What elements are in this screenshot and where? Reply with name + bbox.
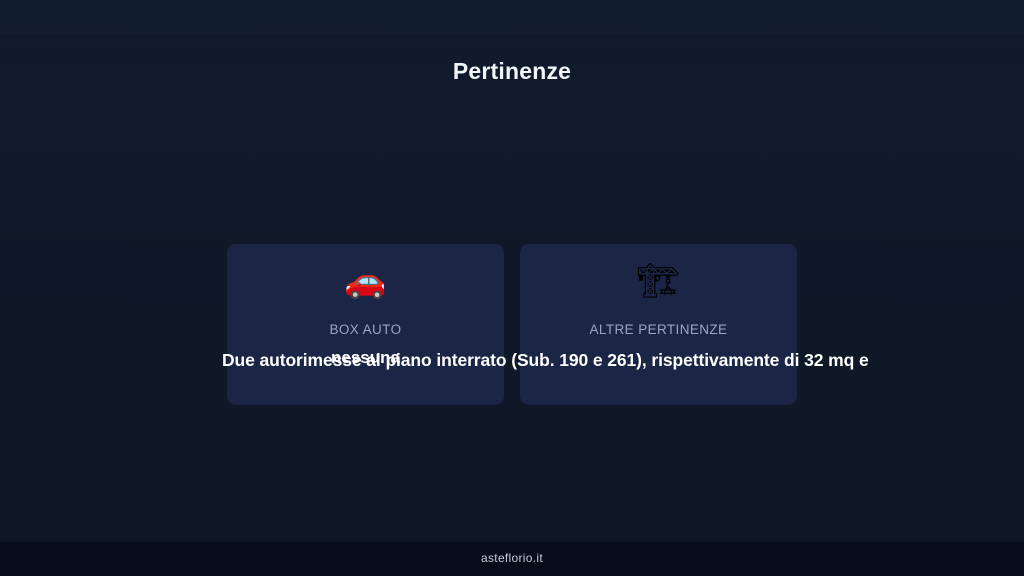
card-box-auto[interactable]: 🚗 BOX AUTO nessuna (227, 244, 504, 405)
background-band-middle (0, 34, 1024, 60)
background-band-top (0, 0, 1024, 34)
slide-stage: Pertinenze 🚗 BOX AUTO nessuna 🏗 ALTRE PE… (0, 0, 1024, 576)
card-label-altre-pertinenze: ALTRE PERTINENZE (520, 322, 797, 337)
page-title: Pertinenze (0, 58, 1024, 85)
car-icon: 🚗 (227, 261, 504, 301)
pertinenze-description-overflow: Due autorimesse al piano interrato (Sub.… (222, 348, 1024, 372)
footer-bar: asteflorio.it (0, 542, 1024, 576)
construction-crane-icon: 🏗 (520, 261, 797, 301)
footer-site-label: asteflorio.it (0, 551, 1024, 565)
card-altre-pertinenze[interactable]: 🏗 ALTRE PERTINENZE (520, 244, 797, 405)
card-label-box-auto: BOX AUTO (227, 322, 504, 337)
pertinenze-card-group: 🚗 BOX AUTO nessuna 🏗 ALTRE PERTINENZE (227, 244, 797, 405)
